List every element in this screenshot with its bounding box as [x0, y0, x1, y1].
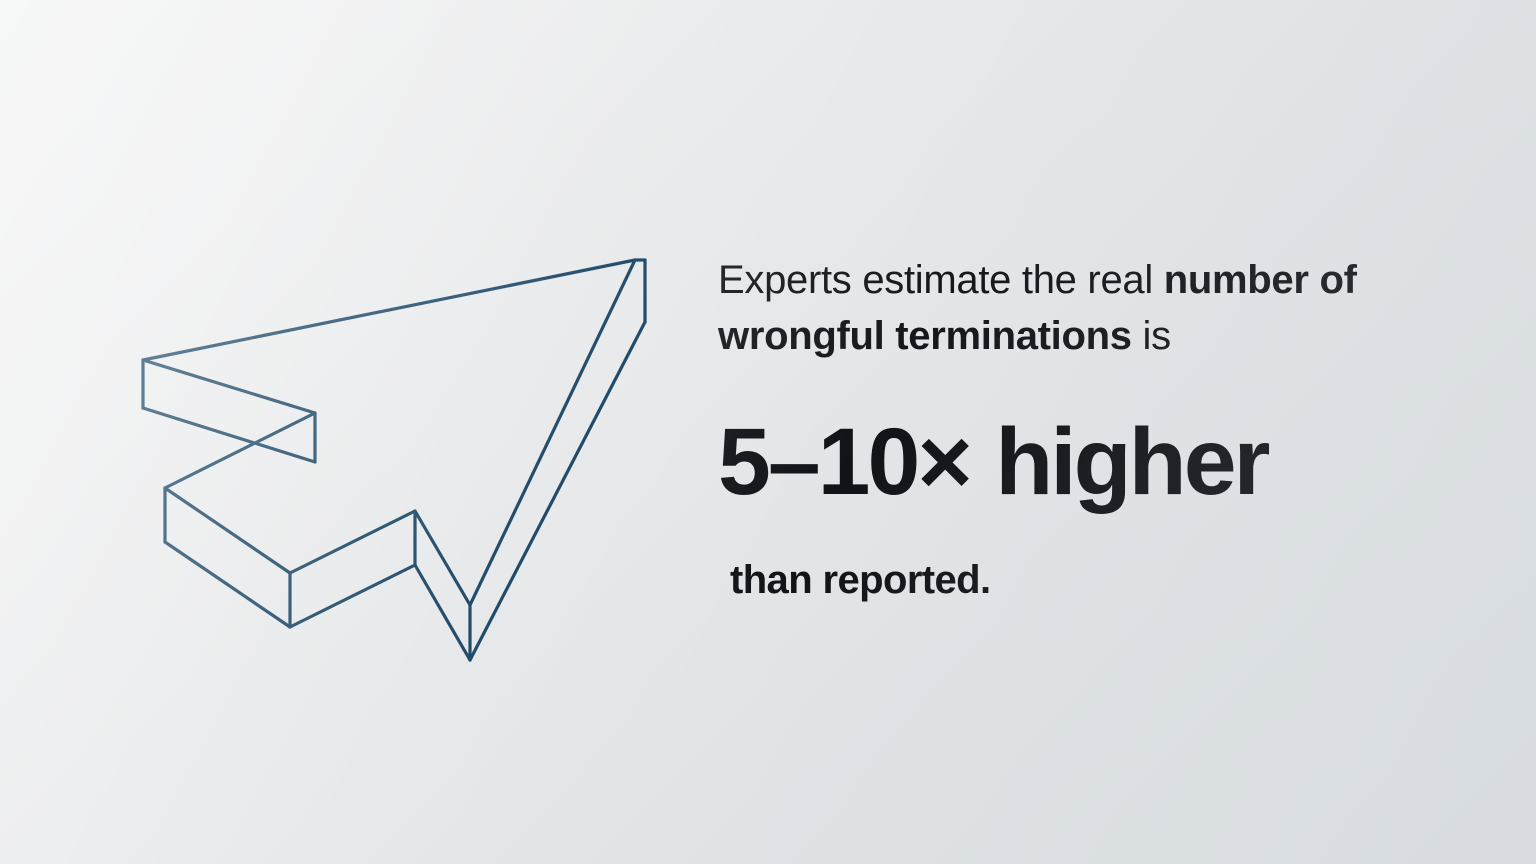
cursor-right-lower-edge	[470, 322, 645, 660]
text-column: Experts estimate the real number of wron…	[718, 252, 1478, 604]
cursor-arrow-illustration	[110, 236, 670, 628]
cursor-tail-lower-front	[143, 408, 315, 462]
headline-multiplier-symbol: ×	[917, 409, 971, 515]
lede-part-2: is	[1132, 314, 1171, 358]
cursor-wing-bottom-edge	[290, 565, 415, 627]
cursor-wing-to-point	[415, 565, 470, 660]
lede-paragraph: Experts estimate the real number of wron…	[718, 252, 1418, 364]
slide-canvas: Experts estimate the real number of wron…	[0, 0, 1536, 864]
lede-part-1: Experts estimate the real	[718, 258, 1164, 302]
headline-word: higher	[972, 409, 1268, 515]
cursor-arrow-icon	[110, 236, 670, 628]
headline: 5–10× higher	[718, 364, 1478, 512]
cursor-block-bottom-edge	[165, 542, 290, 627]
headline-range: 5–10	[718, 409, 917, 515]
kicker-text: than reported.	[718, 512, 1478, 604]
